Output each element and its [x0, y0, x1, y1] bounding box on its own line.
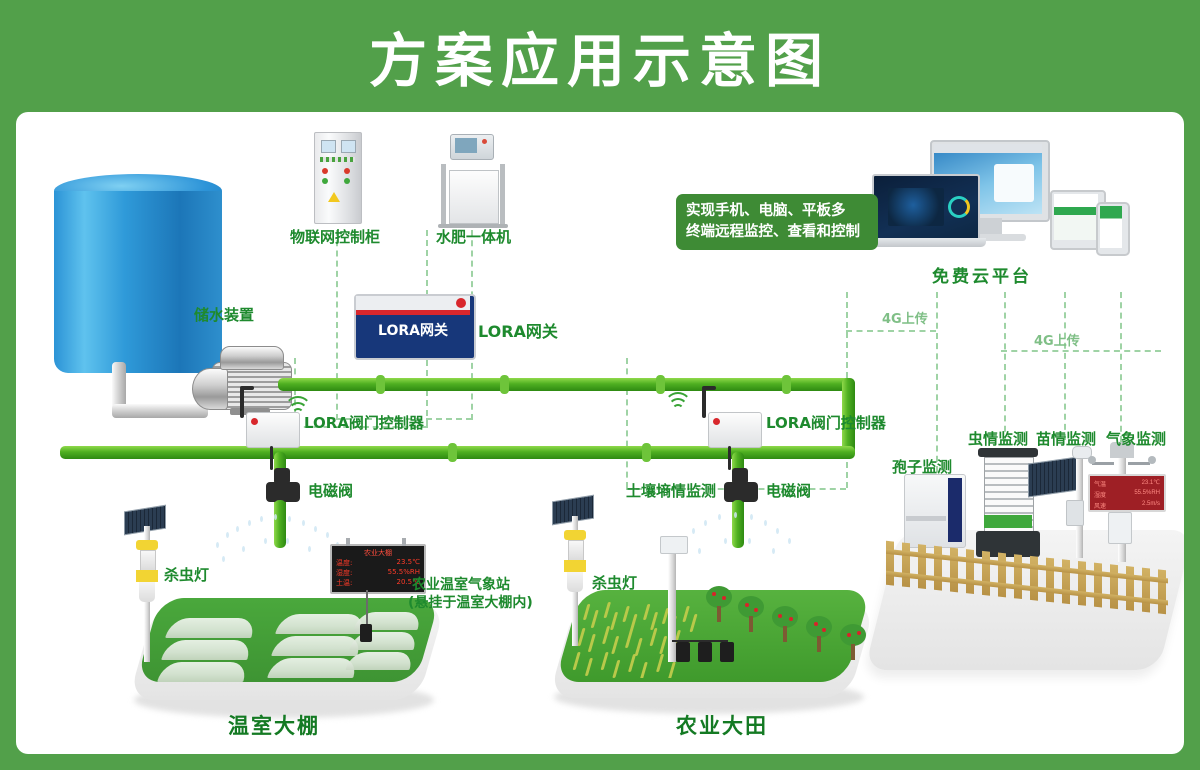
spore-monitor-strip	[906, 516, 946, 521]
greenhouse-sensor-cable	[366, 590, 368, 626]
solenoid-valve-left-coil	[274, 468, 290, 484]
insect-monitor-roof	[978, 448, 1038, 457]
seedling-solar-panel	[1028, 456, 1078, 497]
pipe-joint-4	[782, 375, 791, 394]
water-tank-outlet-elbow	[112, 404, 208, 418]
led-row-2: 土温: 20.5℃	[332, 578, 424, 588]
wifi-signal-icon-right	[670, 390, 700, 412]
label-water-storage: 储水装置	[194, 304, 254, 325]
fertigation-screen-btn	[482, 139, 487, 144]
cabinet-button-green-1	[322, 178, 328, 184]
insect-monitor-green-band	[984, 515, 1032, 528]
weather-cup-1	[1088, 456, 1096, 464]
cabinet-meter-1	[321, 140, 336, 153]
label-zone-greenhouse: 温室大棚	[228, 710, 320, 740]
valve-ctrl-right-antenna	[702, 388, 706, 418]
field-sensor-box	[660, 536, 688, 554]
label-cloud-platform: 免费云平台	[932, 262, 1032, 287]
label-insect-lamp-right: 杀虫灯	[592, 572, 637, 593]
fertigation-frame-left	[441, 164, 446, 226]
dash-line-weather-v	[1120, 292, 1122, 442]
fertigation-frame-right	[500, 164, 505, 226]
greenhouse-tunnel-1	[165, 618, 257, 638]
pipe-joint-6	[642, 443, 651, 462]
valve-ctrl-left-badge	[251, 418, 258, 425]
insect-lamp-left-head	[136, 540, 158, 550]
cabinet-switch-row	[320, 157, 355, 162]
cabinet-warning-icon	[328, 192, 340, 202]
label-lora-gateway: LORA网关	[478, 318, 558, 342]
led-name-0: 温度:	[336, 558, 352, 568]
weather-cabinet	[1108, 512, 1132, 544]
dash-line-cab-down	[336, 230, 338, 420]
cabinet-button-red-2	[344, 168, 350, 174]
label-seedling-monitor: 苗情监测	[1036, 428, 1096, 449]
callout-multi-terminal: 实现手机、电脑、平板多 终端远程监控、查看和控制	[676, 194, 878, 250]
desktop-monitor-browserbar	[934, 144, 1042, 153]
weather-led-value-1: 55.5%RH	[1134, 490, 1160, 499]
label-upload-left: 4G上传	[882, 308, 928, 327]
valve-ctrl-right-badge	[713, 418, 720, 425]
label-zone-field: 农业大田	[676, 710, 768, 740]
soil-probe-3	[720, 642, 734, 662]
greenhouse-led-mount-left	[346, 538, 350, 546]
label-insect-lamp-left: 杀虫灯	[164, 564, 209, 585]
led-name-1: 湿度:	[336, 568, 352, 578]
solenoid-valve-left-body	[266, 482, 300, 502]
weather-anemometer-left	[1092, 462, 1114, 465]
insect-lamp-left-funnel	[136, 570, 158, 582]
weather-anemometer-right	[1128, 462, 1150, 465]
seedling-control-box	[1066, 500, 1084, 526]
sprinkler-spray-right	[676, 510, 806, 562]
label-lora-valve-controller-right: LORA阀门控制器	[766, 412, 886, 433]
lora-gateway-text: LORA网关	[354, 320, 472, 340]
brand-badge-icon	[456, 298, 466, 308]
laptop-base	[862, 238, 986, 247]
label-weather-monitor: 气象监测	[1106, 428, 1166, 449]
weather-led-name-2: 风速	[1094, 501, 1106, 510]
solenoid-valve-right-body	[724, 482, 758, 502]
label-spore-monitor: 孢子监测	[892, 456, 952, 477]
main-pipe-upper	[278, 378, 854, 391]
fertigation-screen-display	[455, 138, 477, 153]
label-solenoid-valve-right: 电磁阀	[766, 480, 811, 501]
field-crop-rows	[560, 596, 764, 678]
valve-ctrl-left-antenna	[240, 388, 244, 418]
water-pump-housing	[192, 368, 228, 410]
dash-line-insect-v	[1004, 292, 1006, 442]
label-soil-moisture: 土壤墒情监测	[626, 480, 716, 501]
cabinet-button-green-2	[344, 178, 350, 184]
weather-led-name-0: 气温	[1094, 479, 1106, 488]
led-row-0: 温度: 23.5℃	[332, 558, 424, 568]
led-name-2: 土温:	[336, 578, 352, 588]
label-fertigation-machine: 水肥一体机	[436, 226, 511, 247]
pipe-joint-1	[376, 375, 385, 394]
laptop-accent-ring	[948, 196, 970, 218]
valve-ctrl-right-antenna-tip	[702, 386, 716, 390]
dash-line-spore-v	[936, 292, 938, 472]
pipe-joint-3	[656, 375, 665, 394]
dash-line-seedling-v	[1064, 292, 1066, 440]
callout-line-2: 终端远程监控、查看和控制	[686, 222, 868, 243]
weather-led-value-0: 23.1℃	[1142, 479, 1160, 488]
water-pump-cap	[220, 346, 284, 370]
insect-lamp-right-head	[564, 530, 586, 540]
spore-monitor-panel	[948, 478, 962, 542]
label-solenoid-valve-left: 电磁阀	[308, 480, 353, 501]
weather-led-value-2: 2.5m/s	[1142, 501, 1160, 510]
greenhouse-tunnel-2	[161, 640, 253, 660]
dash-line-weather-h	[1001, 350, 1161, 352]
solenoid-valve-right-coil	[732, 468, 748, 484]
valve-ctrl-left-antenna-tip	[240, 386, 254, 390]
weather-led-rows: 气温 23.1℃ 湿度 55.5%RH 风速 2.5m/s	[1090, 476, 1164, 513]
dash-line-cloud-left-h	[846, 330, 936, 332]
greenhouse-tunnel-4	[275, 614, 367, 634]
lora-gateway-red-stripe	[356, 310, 470, 315]
label-greenhouse-station-line1: 农业温室气象站	[412, 574, 510, 594]
tablet-screen	[1054, 194, 1098, 240]
label-control-cabinet: 物联网控制柜	[290, 226, 380, 247]
cabinet-meter-2	[341, 140, 356, 153]
callout-line-1: 实现手机、电脑、平板多	[686, 201, 868, 222]
greenhouse-tunnel-9	[345, 652, 414, 670]
desktop-monitor-login-card	[994, 164, 1034, 202]
led-header: 农业大棚	[332, 548, 424, 558]
led-row-1: 湿度: 55.5%RH	[332, 568, 424, 578]
label-lora-valve-controller-left: LORA阀门控制器	[304, 412, 424, 433]
greenhouse-tunnel-5	[271, 636, 363, 656]
greenhouse-led-mount-right	[402, 538, 406, 546]
insect-lamp-right-collector	[567, 572, 583, 592]
diagram-canvas: 4G上传 4G上传 储水装置 物联	[16, 112, 1184, 754]
label-greenhouse-station-line2: (悬挂于温室大棚内)	[408, 592, 533, 612]
page-title: 方案应用示意图	[0, 14, 1200, 98]
diagram-frame: 方案应用示意图 4G上传 4G上传 储水装置	[0, 0, 1200, 770]
fertigation-body	[449, 170, 499, 224]
pipe-joint-2	[500, 375, 509, 394]
cabinet-button-red-1	[322, 168, 328, 174]
greenhouse-tunnel-3	[157, 662, 249, 682]
pipe-joint-5	[448, 443, 457, 462]
label-insect-monitor: 虫情监测	[968, 428, 1028, 449]
insect-lamp-left-collector	[139, 582, 155, 602]
soil-probe-2	[698, 642, 712, 662]
laptop-dashboard-map	[888, 188, 944, 226]
soil-probe-1	[676, 642, 690, 662]
insect-lamp-right-funnel	[564, 560, 586, 572]
led-value-0: 23.5℃	[397, 558, 420, 568]
weather-led-name-1: 湿度	[1094, 490, 1106, 499]
greenhouse-sensor-probe	[360, 624, 372, 642]
solenoid-valve-right-wire	[728, 446, 731, 470]
phone-screen	[1100, 206, 1122, 248]
solenoid-valve-left-wire	[270, 446, 273, 470]
weather-led-board: 气温 23.1℃ 湿度 55.5%RH 风速 2.5m/s	[1088, 474, 1166, 512]
weather-cup-2	[1148, 456, 1156, 464]
field-sensor-pole	[668, 542, 676, 662]
label-upload-right: 4G上传	[1034, 330, 1080, 349]
water-tank-body	[54, 191, 222, 373]
